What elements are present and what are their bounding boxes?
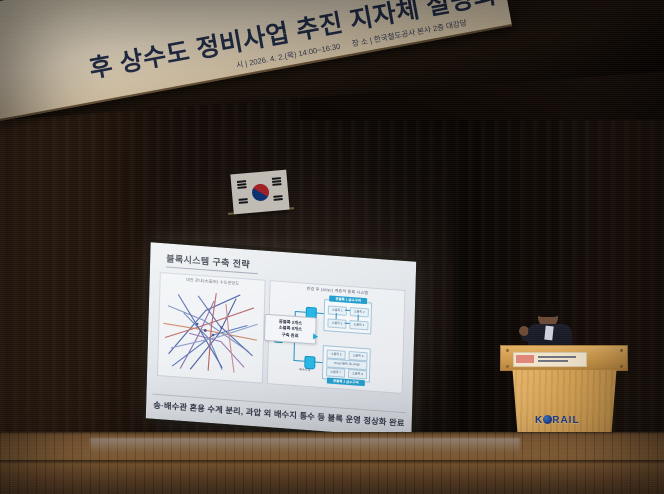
korean-flag: [230, 170, 289, 215]
photo-scene: 후 상수도 정비사업 추진 지자체 설명회 시 | 2026. 4. 2.(목)…: [0, 0, 664, 494]
nameplate-emblem: [516, 355, 534, 363]
korail-logo: KRAIL: [535, 414, 580, 426]
podium-top-surface: [500, 345, 628, 371]
callout-arrow-icon: [313, 333, 318, 339]
block-summary-callout: 중블록 2개소 소블록 8개소 구축 완료: [264, 314, 317, 345]
stage-floor-edge: [0, 460, 664, 464]
stage-curtain-left: [0, 95, 150, 435]
korail-swoosh-icon: [543, 415, 552, 424]
stage-floor: [0, 432, 664, 494]
nameplate-line-1: [538, 356, 576, 358]
korail-logo-text: KRAIL: [535, 414, 580, 426]
projection-screen: 블록시스템 구축 전략 대전 관내(大田市) 수도관망도: [146, 242, 416, 437]
stage-floor-reflection: [90, 438, 520, 454]
nameplate-line-2: [538, 360, 568, 362]
presenter-shirt: [544, 326, 553, 341]
podium-nameplate: [513, 352, 587, 367]
presenter-hair: [536, 304, 560, 317]
taeguk-circle: [251, 183, 269, 201]
